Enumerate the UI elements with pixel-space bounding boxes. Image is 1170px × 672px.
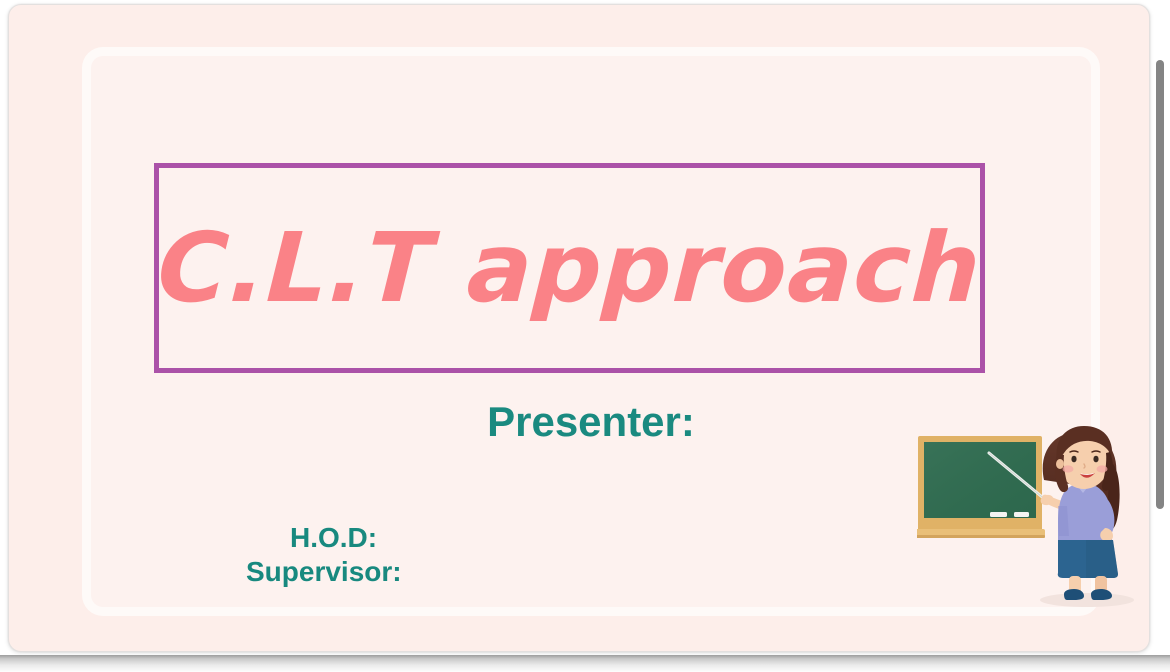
eye-left <box>1071 456 1076 463</box>
chalk-piece <box>1014 512 1029 517</box>
chalkboard <box>917 436 1045 538</box>
vertical-scrollbar-track[interactable] <box>1153 4 1167 652</box>
page-title: C.L.T approach <box>155 220 983 316</box>
shoe-right <box>1091 589 1112 600</box>
presentation-slide[interactable]: C.L.T approach Presenter: H.O.D: Supervi… <box>8 4 1150 652</box>
slide-inner-panel: C.L.T approach Presenter: H.O.D: Supervi… <box>91 56 1091 607</box>
cheek-left <box>1063 465 1074 472</box>
eye-right <box>1093 456 1098 463</box>
window-bottom-chrome <box>0 655 1170 672</box>
teacher-at-chalkboard-illustration <box>917 424 1150 607</box>
slide-viewer-window: C.L.T approach Presenter: H.O.D: Supervi… <box>0 0 1170 672</box>
cheek-right <box>1097 465 1108 472</box>
teacher-figure <box>1039 426 1119 600</box>
floor-shadow <box>1040 593 1134 607</box>
vertical-scrollbar-thumb[interactable] <box>1156 60 1164 509</box>
credit-line-hod: H.O.D: <box>246 521 666 555</box>
chalk-piece <box>990 512 1007 517</box>
credit-line-supervisor: Supervisor: <box>246 555 666 589</box>
teacher-illustration-svg <box>917 424 1150 607</box>
title-frame: C.L.T approach <box>154 163 985 373</box>
credits-block: H.O.D: Supervisor: <box>246 521 666 589</box>
